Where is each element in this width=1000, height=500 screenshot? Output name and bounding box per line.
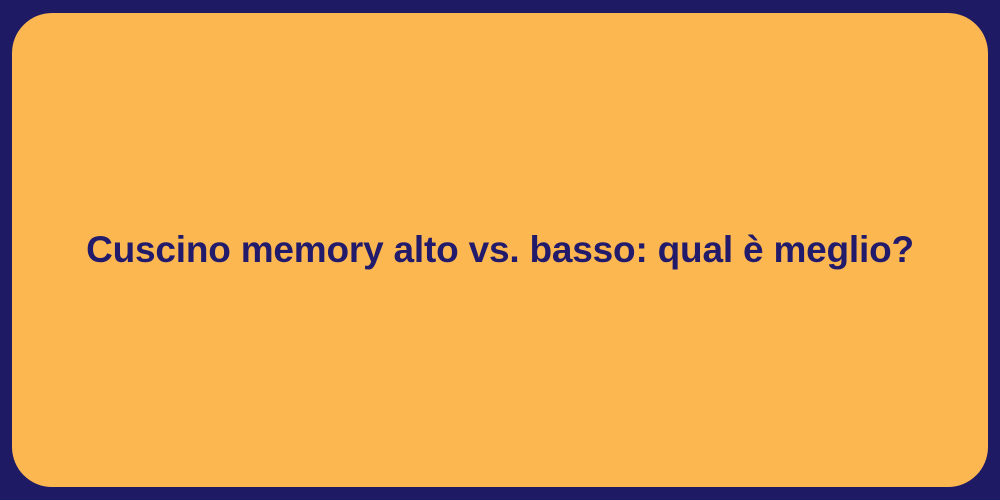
page-title: Cuscino memory alto vs. basso: qual è me… bbox=[12, 228, 988, 272]
card-frame: Cuscino memory alto vs. basso: qual è me… bbox=[0, 0, 1000, 500]
card-panel: Cuscino memory alto vs. basso: qual è me… bbox=[12, 13, 988, 487]
